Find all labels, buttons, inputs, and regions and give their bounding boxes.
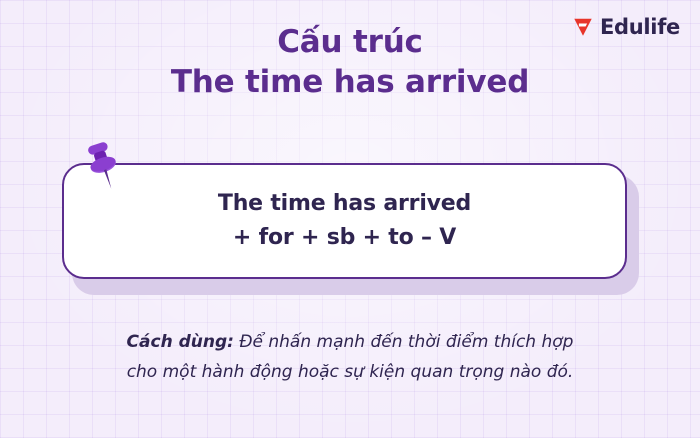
usage-line-1: Cách dùng: Để nhấn mạnh đến thời điểm th…: [0, 327, 700, 357]
edulife-triangle-logo-icon: [572, 16, 594, 38]
card-body: The time has arrived + for + sb + to – V: [62, 163, 627, 279]
usage-label: Cách dùng:: [127, 332, 234, 352]
usage-text-1: Để nhấn mạnh đến thời điểm thích hợp: [234, 332, 574, 352]
title-line-2: The time has arrived: [0, 62, 700, 102]
usage-line-2: cho một hành động hoặc sự kiện quan trọn…: [0, 357, 700, 387]
pushpin-icon: [80, 141, 126, 193]
brand-name: Edulife: [600, 17, 680, 38]
structure-line-1: The time has arrived: [218, 190, 471, 218]
slide-canvas: Edulife Cấu trúc The time has arrived Th…: [0, 0, 700, 438]
brand-logo: Edulife: [572, 16, 680, 38]
structure-line-2: + for + sb + to – V: [233, 224, 456, 252]
usage-note: Cách dùng: Để nhấn mạnh đến thời điểm th…: [0, 327, 700, 387]
structure-card: The time has arrived + for + sb + to – V: [62, 163, 639, 295]
